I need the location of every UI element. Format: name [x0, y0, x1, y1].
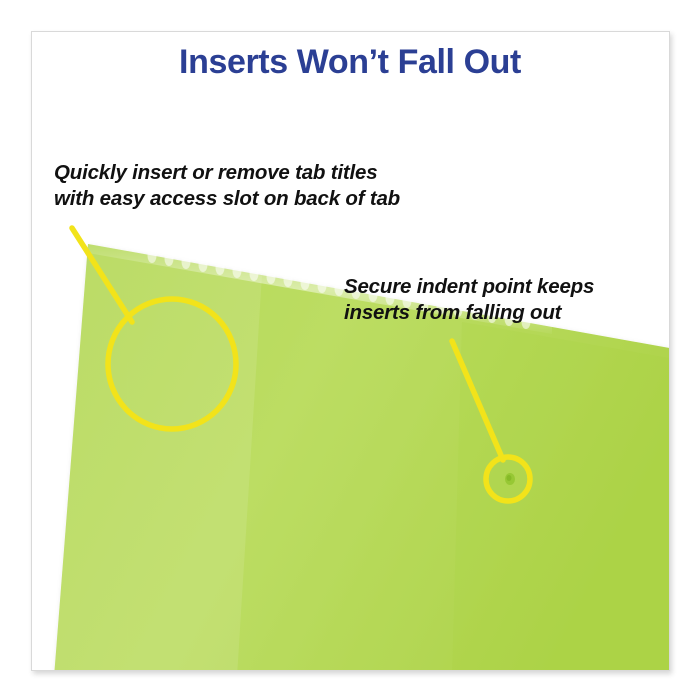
page-title: Inserts Won’t Fall Out — [0, 45, 700, 79]
product-feature-image: Inserts Won’t Fall Out Quickly insert or… — [0, 0, 700, 700]
product-photo-frame — [31, 31, 670, 671]
product-photo — [32, 32, 670, 671]
callout-indent-point-line-2: inserts from falling out — [344, 300, 594, 326]
callout-access-slot-line-2: with easy access slot on back of tab — [54, 186, 400, 212]
callout-access-slot-line-1: Quickly insert or remove tab titles — [54, 160, 400, 186]
callout-access-slot-text: Quickly insert or remove tab titles with… — [54, 160, 400, 212]
callout-indent-point-line-1: Secure indent point keeps — [344, 274, 594, 300]
tab-indent-point — [505, 473, 515, 485]
callout-indent-point-text: Secure indent point keeps inserts from f… — [344, 274, 594, 326]
